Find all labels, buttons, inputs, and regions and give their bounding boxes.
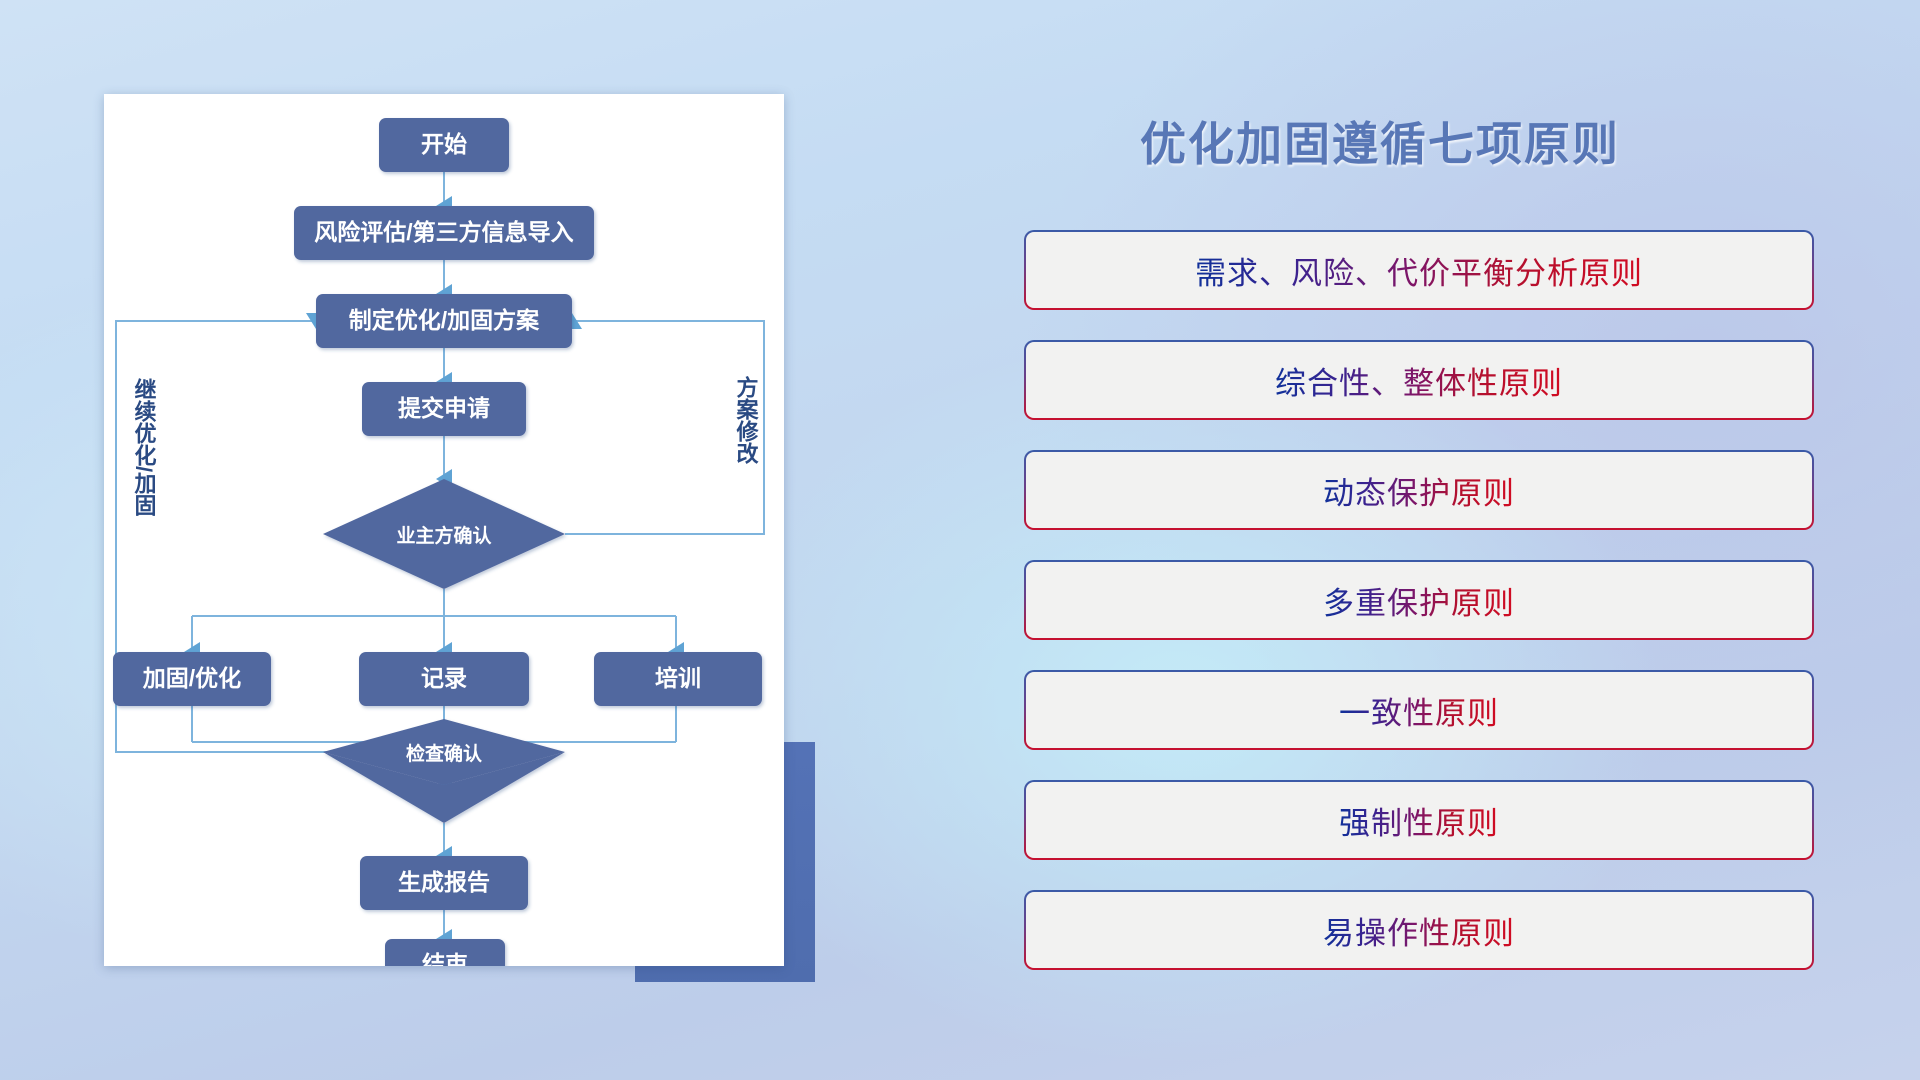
principle-card-4-inner: 多重保护原则 <box>1026 562 1812 638</box>
flow-node-check[interactable] <box>323 719 565 823</box>
flow-node-owner-confirm-label: 业主方确认 <box>396 524 491 547</box>
flow-node-submit-label: 提交申请 <box>398 395 490 421</box>
page-title: 优化加固遵循七项原则 <box>840 108 1920 174</box>
flow-node-end-label: 结束 <box>422 951 469 966</box>
principle-card-1-inner: 需求、风险、代价平衡分析原则 <box>1026 232 1812 308</box>
flowchart-panel: 开始 风险评估/第三方信息导入 制定优化/加固方案 提交申请 业主方确认 <box>0 0 840 1080</box>
principle-card-1[interactable]: 需求、风险、代价平衡分析原则 <box>1024 230 1814 310</box>
principle-card-5-label: 一致性原则 <box>1339 688 1499 733</box>
flow-node-check-label: 检查确认 <box>406 742 482 765</box>
flowchart-canvas: 开始 风险评估/第三方信息导入 制定优化/加固方案 提交申请 业主方确认 <box>104 94 784 966</box>
principle-card-4-label: 多重保护原则 <box>1323 578 1515 623</box>
principle-card-6-inner: 强制性原则 <box>1026 782 1812 858</box>
flow-edge-label-left: 继续优化/加固 <box>132 377 158 517</box>
flow-node-report-label: 生成报告 <box>398 869 490 895</box>
flow-node-record-label: 记录 <box>421 665 467 691</box>
principles-panel: 优化加固遵循七项原则 需求、风险、代价平衡分析原则 综合性、整体性原则 动态保护… <box>840 0 1920 1080</box>
flow-node-training-label: 培训 <box>655 665 701 691</box>
principle-card-7-inner: 易操作性原则 <box>1026 892 1812 968</box>
principle-card-2-inner: 综合性、整体性原则 <box>1026 342 1812 418</box>
principle-card-5[interactable]: 一致性原则 <box>1024 670 1814 750</box>
principle-card-6[interactable]: 强制性原则 <box>1024 780 1814 860</box>
principles-list: 需求、风险、代价平衡分析原则 综合性、整体性原则 动态保护原则 多重保护原则 一… <box>1024 230 1814 1000</box>
principle-card-1-label: 需求、风险、代价平衡分析原则 <box>1195 248 1643 293</box>
principle-card-5-inner: 一致性原则 <box>1026 672 1812 748</box>
flow-node-start-label: 开始 <box>421 131 467 157</box>
principle-card-3-inner: 动态保护原则 <box>1026 452 1812 528</box>
flow-node-risk-label: 风险评估/第三方信息导入 <box>314 219 573 245</box>
principle-card-6-label: 强制性原则 <box>1339 798 1499 843</box>
principle-card-2[interactable]: 综合性、整体性原则 <box>1024 340 1814 420</box>
flow-node-plan-label: 制定优化/加固方案 <box>349 307 540 333</box>
principle-card-7-label: 易操作性原则 <box>1323 908 1515 953</box>
principle-card-4[interactable]: 多重保护原则 <box>1024 560 1814 640</box>
flow-node-reinforce-label: 加固/优化 <box>142 665 241 691</box>
flow-edge-label-right: 方案修改 <box>734 375 760 465</box>
principle-card-2-label: 综合性、整体性原则 <box>1275 358 1563 403</box>
principle-card-3[interactable]: 动态保护原则 <box>1024 450 1814 530</box>
principle-card-7[interactable]: 易操作性原则 <box>1024 890 1814 970</box>
principle-card-3-label: 动态保护原则 <box>1323 468 1515 513</box>
